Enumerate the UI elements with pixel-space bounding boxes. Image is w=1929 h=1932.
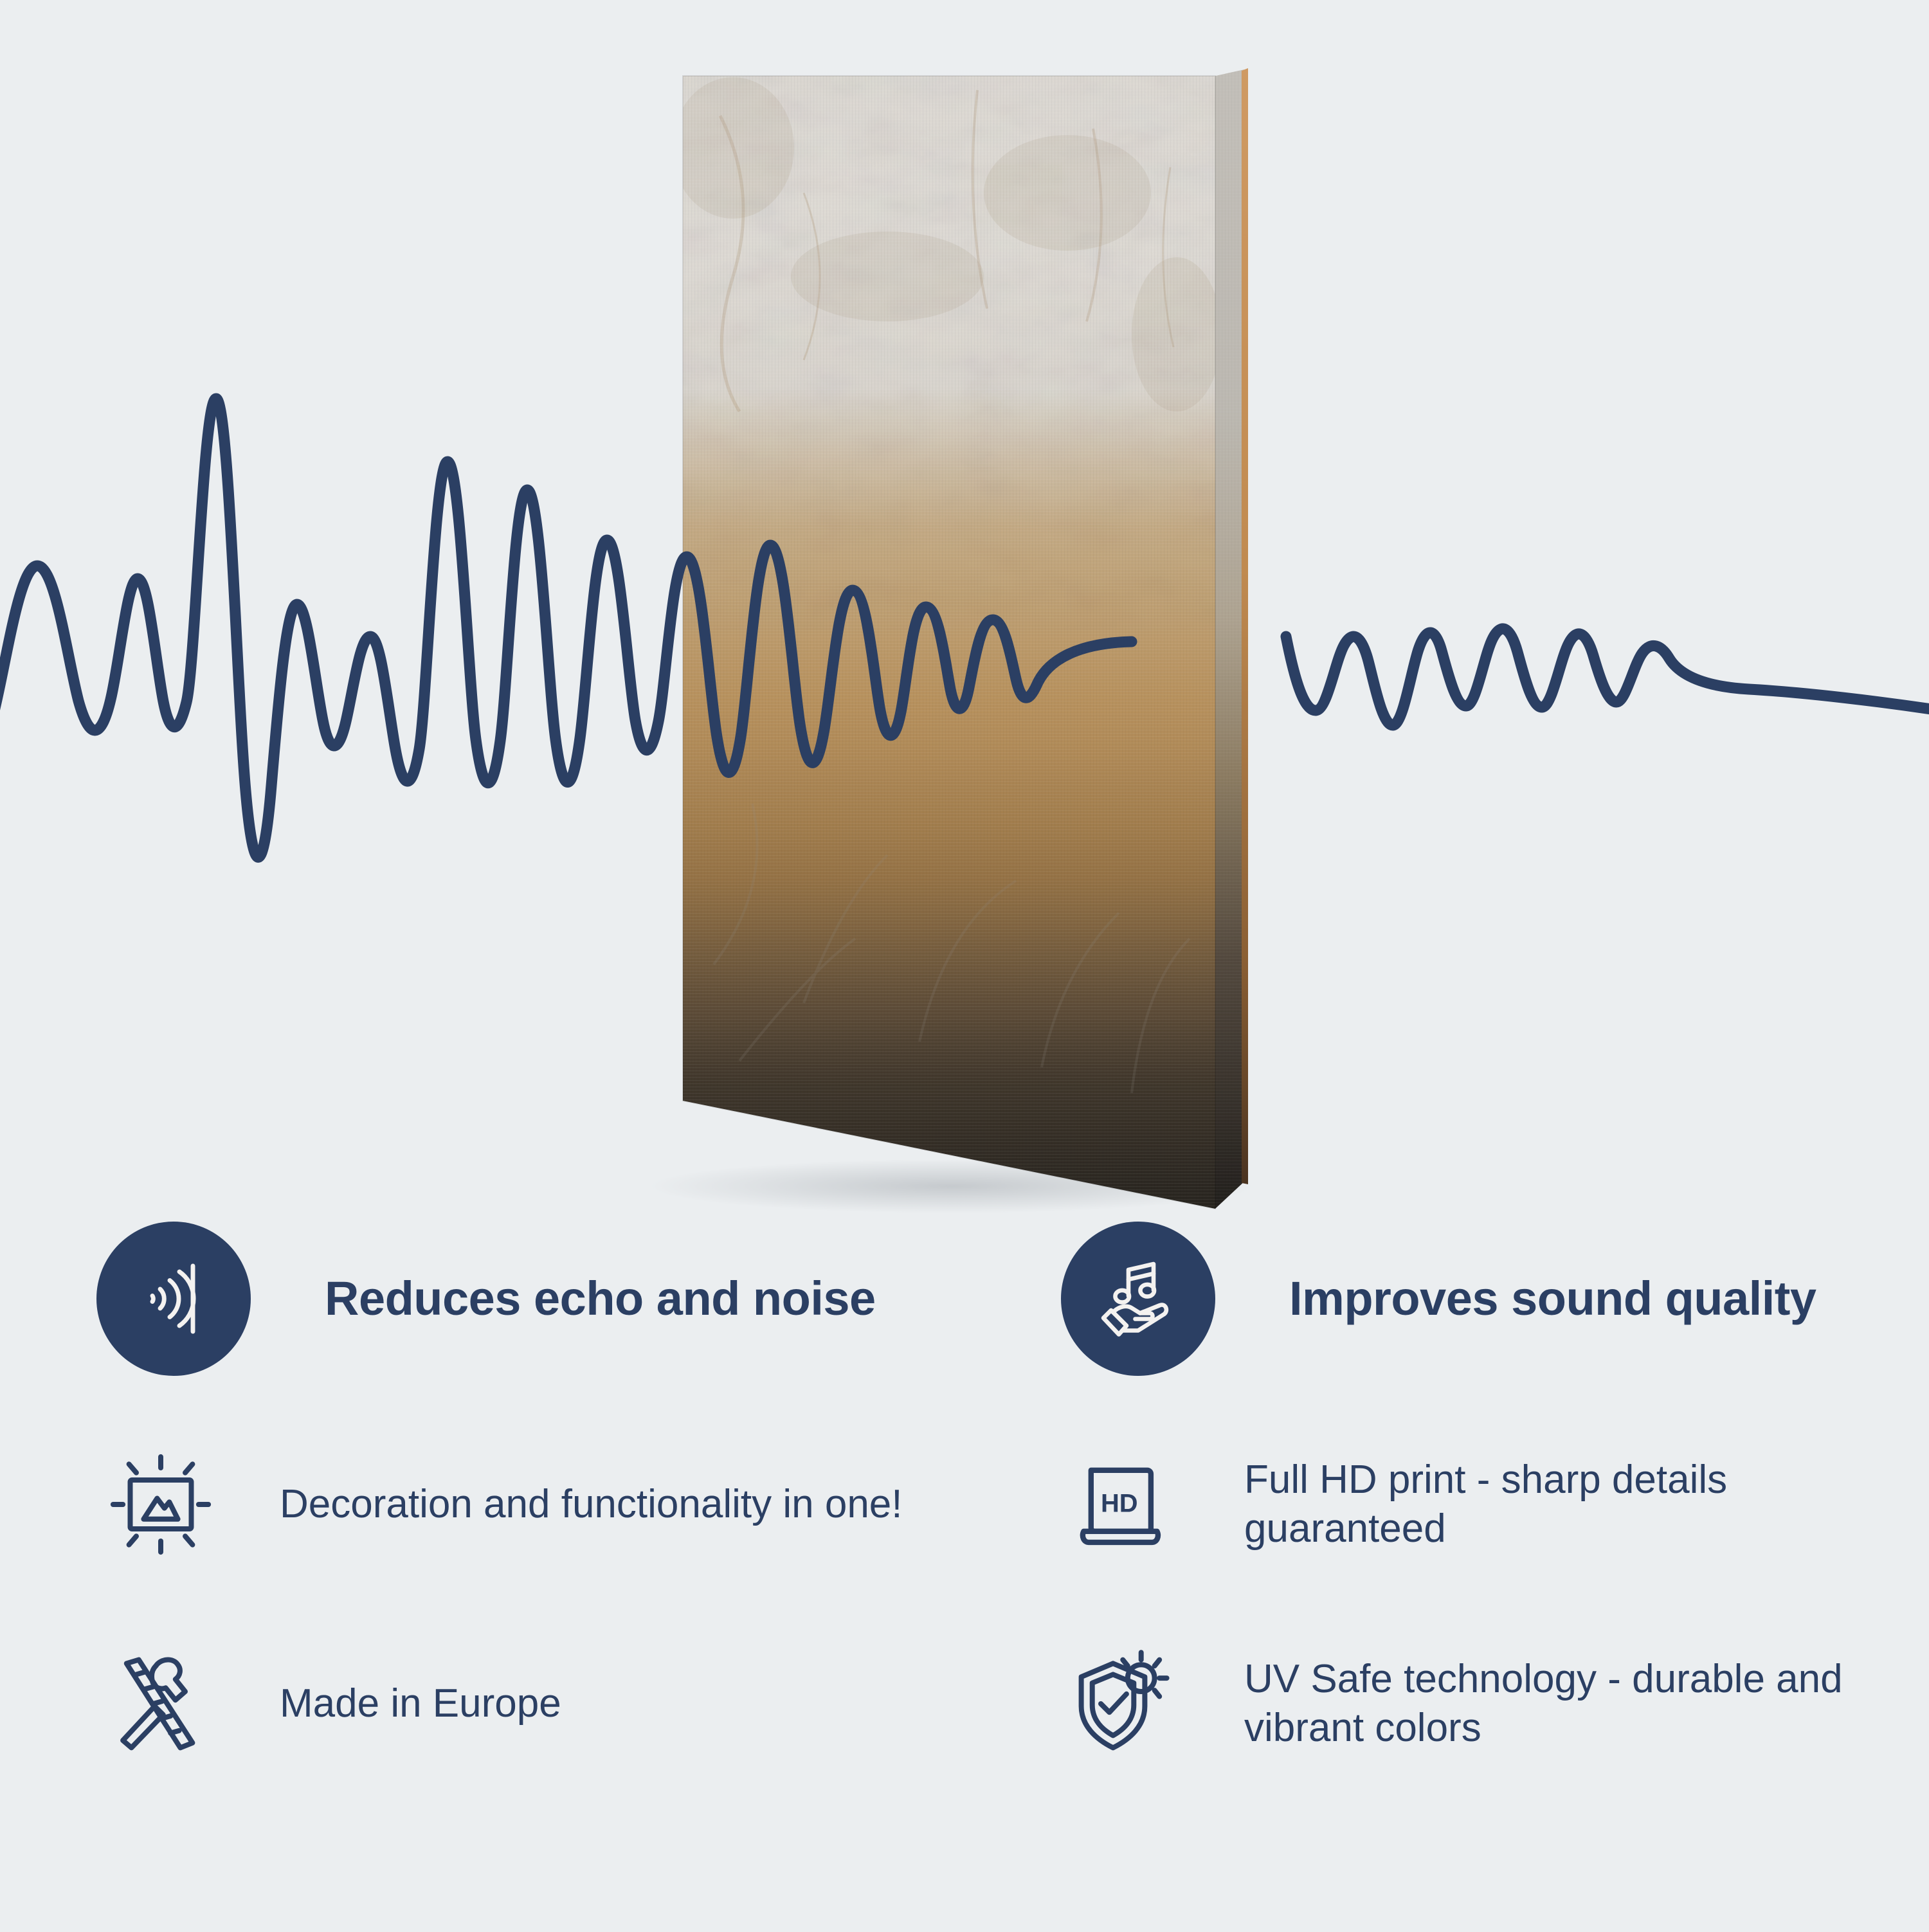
framed-picture-shine-icon: [100, 1443, 222, 1566]
ruler-hammer-icon: [100, 1643, 222, 1765]
feature-label: Full HD print - sharp details guaranteed: [1244, 1456, 1852, 1553]
hd-screen-icon: HD: [1064, 1443, 1186, 1566]
infographic-stage: Reduces echo and noise: [0, 0, 1929, 1929]
feature-reduces-echo: Reduces echo and noise: [96, 1222, 1061, 1376]
feature-row-hero: Reduces echo and noise: [96, 1222, 1852, 1376]
canvas-front-face: [672, 64, 1228, 1222]
icon-uv-safe: [1061, 1639, 1190, 1768]
hd-badge-text: HD: [1101, 1489, 1138, 1517]
feature-row-secondary-1: Decoration and functionality in one! HD …: [96, 1440, 1852, 1569]
row-spacer: [96, 1376, 1852, 1440]
feature-label: Reduces echo and noise: [325, 1274, 876, 1324]
shield-check-sun-icon: [1064, 1643, 1186, 1765]
icon-full-hd-print: HD: [1061, 1440, 1190, 1569]
feature-made-in-europe: Made in Europe: [96, 1639, 1061, 1768]
icon-decoration-functionality: [96, 1440, 225, 1569]
feature-full-hd-print: HD Full HD print - sharp details guarant…: [1061, 1440, 1852, 1569]
feature-row-secondary-2: Made in Europe: [96, 1639, 1852, 1768]
feature-uv-safe: UV Safe technology - durable and vibrant…: [1061, 1639, 1852, 1768]
row-spacer: [96, 1569, 1852, 1639]
music-note-hand-icon: [1090, 1250, 1186, 1347]
badge-improves-sound: [1061, 1222, 1215, 1376]
badge-reduces-echo: [96, 1222, 251, 1376]
feature-list: Reduces echo and noise: [96, 1222, 1852, 1768]
sound-waves-wall-icon: [125, 1250, 222, 1347]
feature-decoration-functionality: Decoration and functionality in one!: [96, 1440, 1061, 1569]
product-canvas-artwork: [0, 0, 1929, 1286]
feature-improves-sound: Improves sound quality: [1061, 1222, 1852, 1376]
icon-made-in-europe: [96, 1639, 225, 1768]
canvas-warm-rim: [1242, 68, 1248, 1184]
feature-label: Decoration and functionality in one!: [280, 1480, 903, 1529]
feature-label: Made in Europe: [280, 1679, 561, 1728]
feature-label: Improves sound quality: [1289, 1274, 1816, 1324]
feature-label: UV Safe technology - durable and vibrant…: [1244, 1655, 1852, 1752]
